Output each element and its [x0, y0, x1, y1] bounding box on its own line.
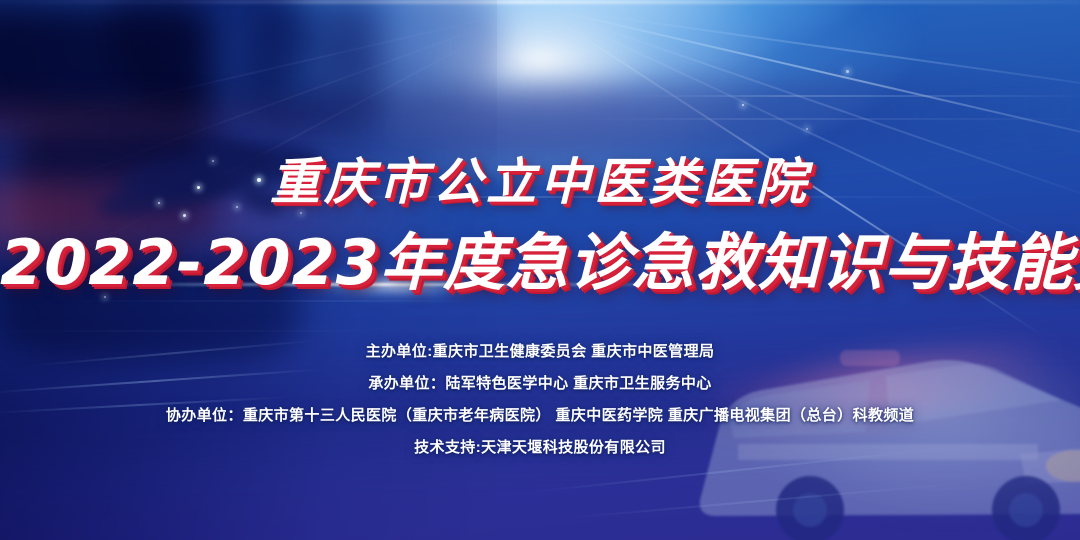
sparkle-dot [846, 70, 849, 73]
credit-line-tech-support: 技术支持:天津天堰科技股份有限公司 [0, 432, 1080, 464]
credits-block: 主办单位:重庆市卫生健康委员会 重庆市中医管理局 承办单位：陆军特色医学中心 重… [0, 336, 1080, 464]
page-title-line-2: 2022-2023年度急诊急救知识与技能竞赛 [0, 212, 1080, 302]
background-blob [330, 0, 500, 100]
credit-line-host: 承办单位：陆军特色医学中心 重庆市卫生服务中心 [0, 368, 1080, 400]
credit-line-co-organizer: 协办单位：重庆市第十三人民医院（重庆市老年病医院） 重庆中医药学院 重庆广播电视… [0, 400, 1080, 432]
sparkle-dot [742, 104, 744, 106]
page-title-line-1: 重庆市公立中医类医院 [0, 142, 1080, 214]
red-haze-band [0, 104, 380, 144]
sparkle-dot [806, 128, 808, 130]
credit-line-organizer: 主办单位:重庆市卫生健康委员会 重庆市中医管理局 [0, 336, 1080, 368]
event-poster: 重庆市公立中医类医院 2022-2023年度急诊急救知识与技能竞赛 主办单位:重… [0, 0, 1080, 540]
